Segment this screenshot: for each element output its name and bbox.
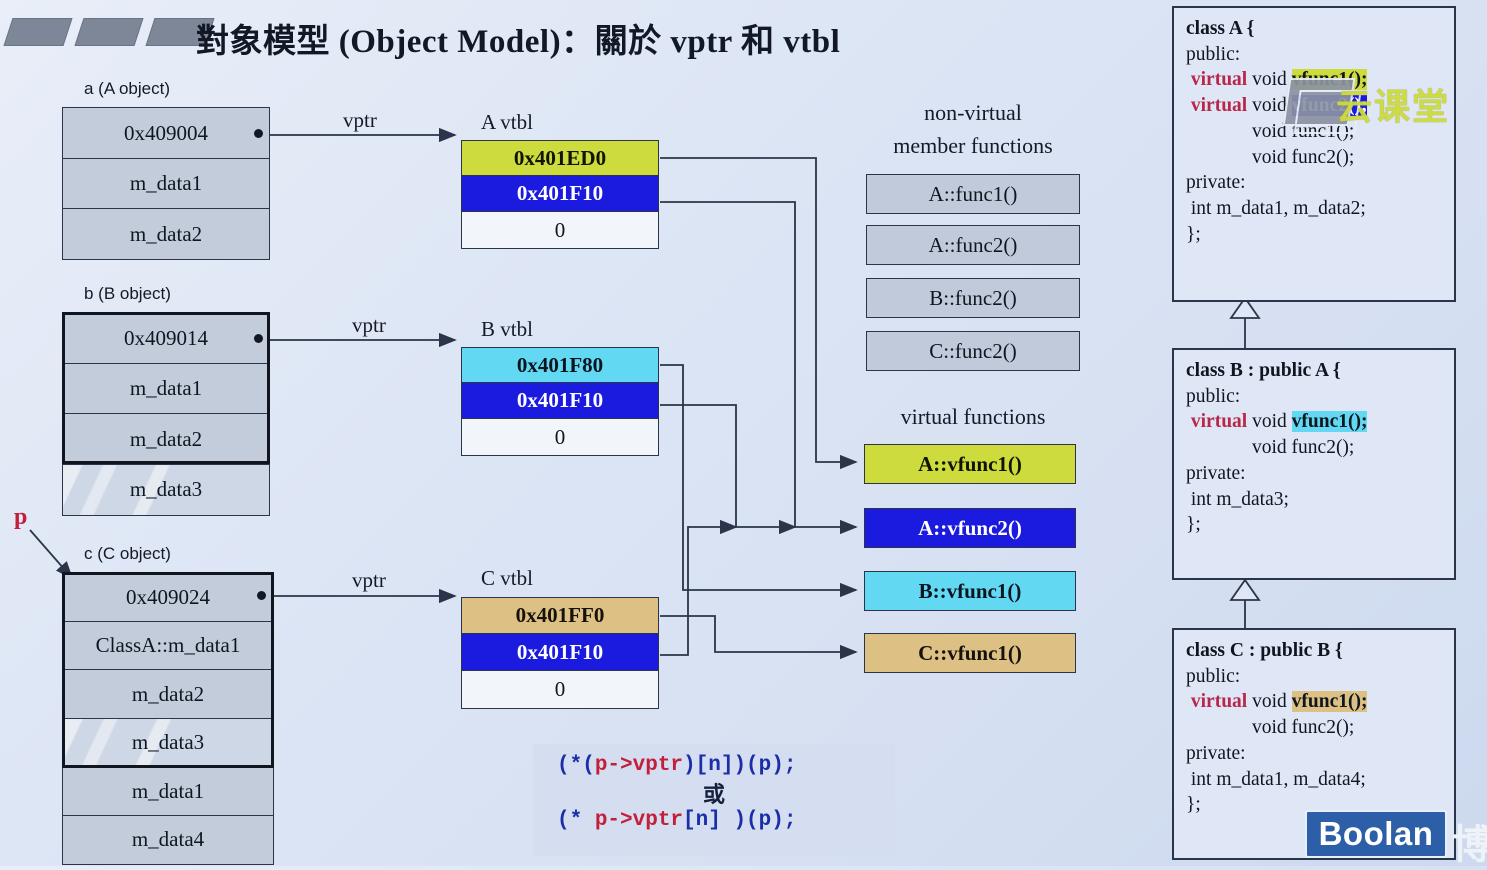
object-c-cell-classa-m_data1: ClassA::m_data1 xyxy=(62,621,274,671)
class-c-private-kw: private: xyxy=(1186,741,1444,767)
class-c-members: int m_data1, m_data4; xyxy=(1191,769,1366,790)
vptr-label-a: vptr xyxy=(343,108,377,133)
vptr-dot-a xyxy=(254,129,263,138)
snippet-line1-prefix: (*( xyxy=(557,754,595,777)
class-b-virtual-kw: virtual xyxy=(1191,411,1247,432)
vtbl-c-slot-0: 0x401FF0 xyxy=(461,597,659,634)
class-b-void: void xyxy=(1252,411,1287,432)
class-a-void-1: void xyxy=(1252,69,1287,90)
object-c-cell-vptr: 0x409024 xyxy=(62,572,274,622)
class-b-line2: public: xyxy=(1186,384,1444,410)
decorative-parallelograms xyxy=(8,18,210,46)
class-a-line2: public: xyxy=(1186,42,1444,68)
vtbl-b-slot-0: 0x401F80 xyxy=(461,347,659,383)
class-a-private-kw: private: xyxy=(1186,170,1444,196)
vtbl-a: 0x401ED0 0x401F10 0 xyxy=(461,140,659,249)
class-a-void-2: void xyxy=(1252,95,1287,116)
vtbl-a-slot-1: 0x401F10 xyxy=(461,175,659,213)
class-a-virtual-kw-1: virtual xyxy=(1191,69,1247,90)
class-c-line1: class C : public B { xyxy=(1186,640,1343,661)
object-c-cell-m_data2: m_data2 xyxy=(62,669,274,719)
vptr-dot-c xyxy=(257,591,266,600)
virtual-fn-b-vfunc1: B::vfunc1() xyxy=(864,571,1076,611)
non-virtual-heading-line2: member functions xyxy=(866,133,1080,159)
page-title: 對象模型 (Object Model)：關於 vptr 和 vtbl xyxy=(196,14,840,62)
vtbl-a-slot-2: 0 xyxy=(461,211,659,249)
snippet-line3-expr: p->vptr xyxy=(595,809,683,832)
vtbl-caption-a: A vtbl xyxy=(481,110,533,135)
vtbl-a-slot-0: 0x401ED0 xyxy=(461,140,659,176)
vtbl-c-slot-2: 0 xyxy=(461,670,659,709)
object-caption-a: a (A object) xyxy=(84,79,170,99)
object-b-cell-vptr: 0x409014 xyxy=(62,312,270,364)
class-b-close: }; xyxy=(1186,512,1444,538)
class-definition-a: class A { public: virtual void vfunc1();… xyxy=(1172,6,1456,302)
class-definition-b: class B : public A { public: virtual voi… xyxy=(1172,348,1456,580)
object-caption-c: c (C object) xyxy=(84,544,171,564)
class-b-func2-decl: void func2(); xyxy=(1252,437,1354,458)
deco-square-1 xyxy=(3,18,72,46)
virtual-fn-a-vfunc1: A::vfunc1() xyxy=(864,444,1076,484)
snippet-or-label: 或 xyxy=(533,777,895,809)
vtbl-c: 0x401FF0 0x401F10 0 xyxy=(461,597,659,709)
object-b-cell-m_data2: m_data2 xyxy=(62,413,270,465)
object-a-cell-vptr: 0x409004 xyxy=(62,107,270,159)
vtbl-b: 0x401F80 0x401F10 0 xyxy=(461,347,659,456)
non-virtual-heading-line1: non-virtual xyxy=(866,100,1080,126)
object-a-cell-m_data2: m_data2 xyxy=(62,208,270,260)
vptr-dot-b xyxy=(254,334,263,343)
non-virtual-fn-a-func2: A::func2() xyxy=(866,225,1080,265)
pointer-label-p: p xyxy=(14,504,27,531)
snippet-line3-prefix: (* xyxy=(557,809,595,832)
memory-object-b: 0x409014 m_data1 m_data2 m_data3 xyxy=(62,312,270,516)
object-c-cell-m_data1: m_data1 xyxy=(62,766,274,816)
virtual-fn-c-vfunc1: C::vfunc1() xyxy=(864,633,1076,673)
vtbl-caption-c: C vtbl xyxy=(481,566,533,591)
vtbl-b-slot-2: 0 xyxy=(461,418,659,456)
vcall-code-snippet: (*(p->vptr)[n])(p); 或 (* p->vptr[n] )(p)… xyxy=(533,744,895,856)
class-a-virtual-kw-2: virtual xyxy=(1191,95,1247,116)
vtbl-caption-b: B vtbl xyxy=(481,317,533,342)
snippet-line1-expr: p->vptr xyxy=(595,754,683,777)
boolan-logo: Boolan xyxy=(1305,810,1447,858)
object-b-cell-m_data3: m_data3 xyxy=(62,464,270,516)
object-caption-b: b (B object) xyxy=(84,284,171,304)
class-c-void: void xyxy=(1252,691,1287,712)
object-b-cell-m_data1: m_data1 xyxy=(62,363,270,415)
memory-object-a: 0x409004 m_data1 m_data2 xyxy=(62,107,270,260)
slide-canvas: 對象模型 (Object Model)：關於 vptr 和 vtbl xyxy=(0,0,1487,866)
class-a-line1: class A { xyxy=(1186,18,1254,39)
class-a-close: }; xyxy=(1186,222,1444,248)
class-c-line2: public: xyxy=(1186,664,1444,690)
class-b-members: int m_data3; xyxy=(1191,489,1289,510)
class-a-func2-decl: void func2(); xyxy=(1252,147,1354,168)
class-b-private-kw: private: xyxy=(1186,461,1444,487)
class-c-vfunc1-decl: vfunc1(); xyxy=(1292,691,1368,712)
boolan-logo-cn: 博 xyxy=(1452,812,1487,870)
class-c-virtual-kw: virtual xyxy=(1191,691,1247,712)
virtual-fn-a-vfunc2: A::vfunc2() xyxy=(864,508,1076,548)
watermark-logo-badge xyxy=(1283,78,1356,126)
vtbl-b-slot-1: 0x401F10 xyxy=(461,382,659,420)
non-virtual-fn-b-func2: B::func2() xyxy=(866,278,1080,318)
class-c-func2-decl: void func2(); xyxy=(1252,717,1354,738)
deco-square-2 xyxy=(74,18,143,46)
non-virtual-fn-a-func1: A::func1() xyxy=(866,174,1080,214)
object-c-cell-m_data3: m_data3 xyxy=(62,718,274,768)
class-b-vfunc1-decl: vfunc1(); xyxy=(1292,411,1368,432)
snippet-line3-suffix: [n] )(p); xyxy=(683,809,796,832)
snippet-line1-suffix: )[n])(p); xyxy=(683,754,796,777)
vtbl-c-slot-1: 0x401F10 xyxy=(461,633,659,672)
object-c-cell-m_data4: m_data4 xyxy=(62,815,274,865)
vptr-label-c: vptr xyxy=(352,568,386,593)
class-b-line1: class B : public A { xyxy=(1186,360,1341,381)
memory-object-c: 0x409024 ClassA::m_data1 m_data2 m_data3… xyxy=(62,572,274,865)
vptr-label-b: vptr xyxy=(352,313,386,338)
non-virtual-fn-c-func2: C::func2() xyxy=(866,331,1080,371)
class-a-members: int m_data1, m_data2; xyxy=(1191,198,1366,219)
virtual-heading: virtual functions xyxy=(866,404,1080,430)
object-a-cell-m_data1: m_data1 xyxy=(62,158,270,210)
